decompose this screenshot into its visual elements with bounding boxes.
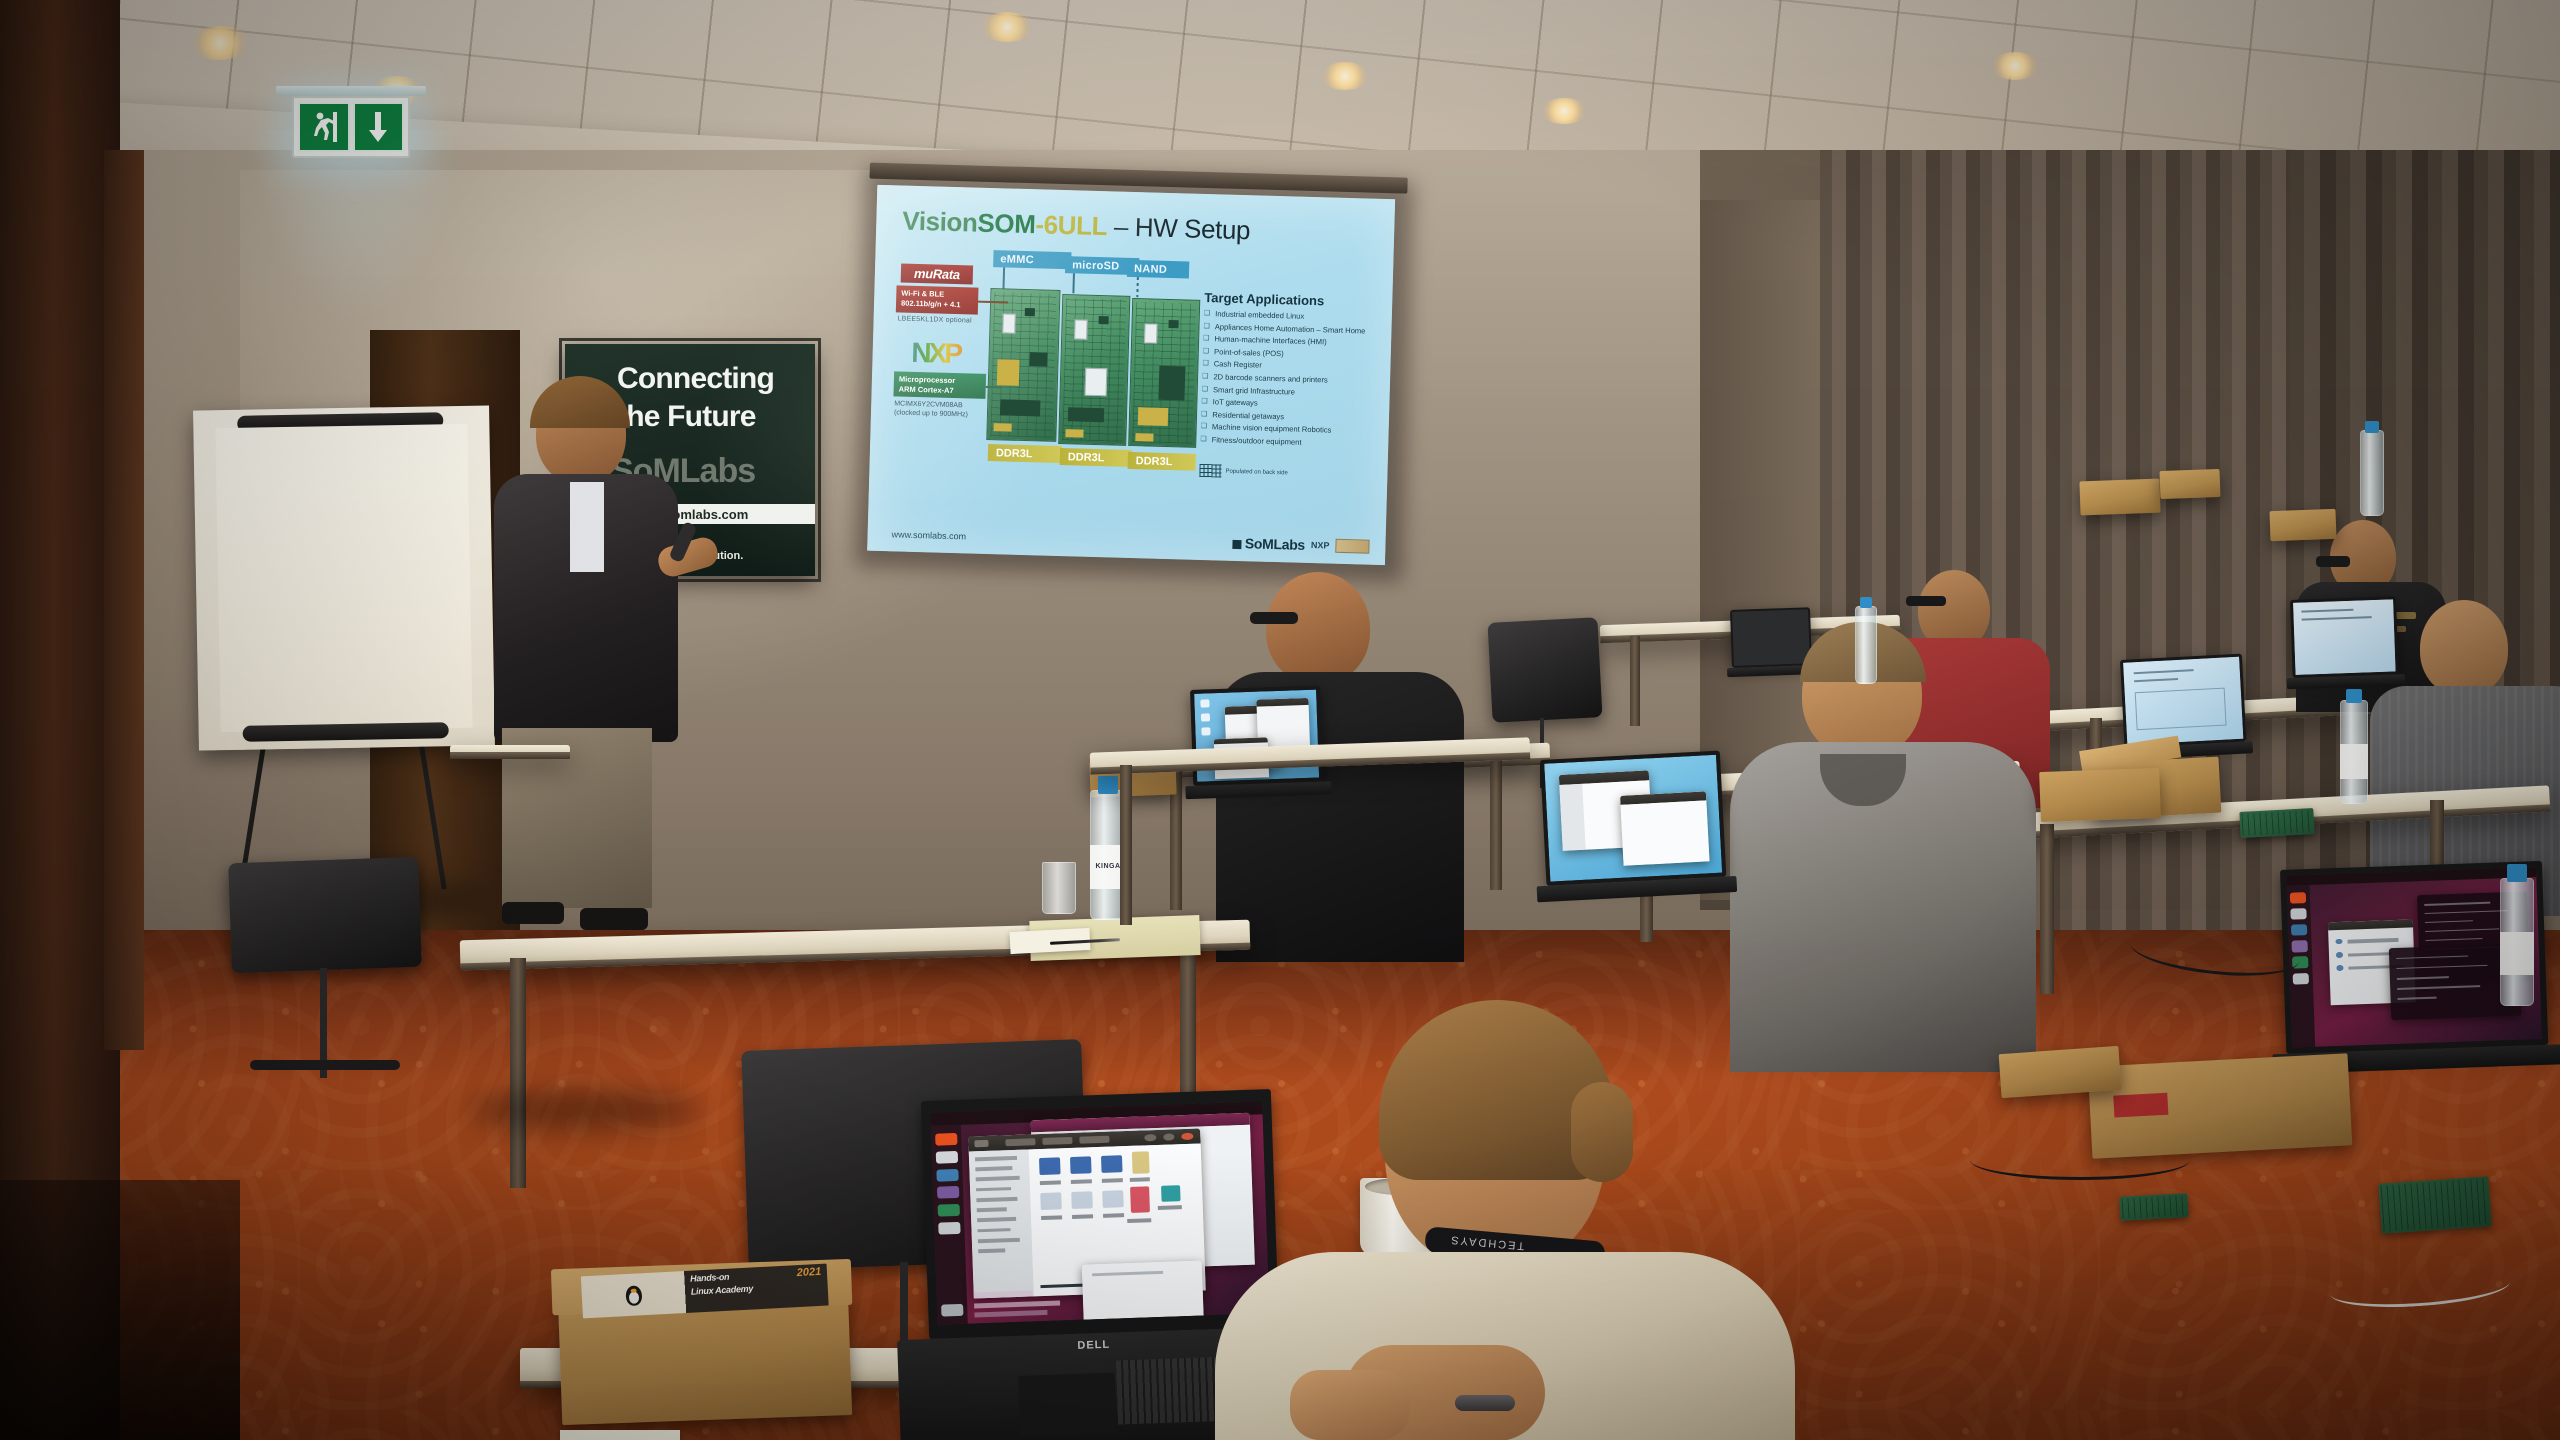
water-bottle[interactable] <box>1855 606 1877 684</box>
ddr-label-1: DDR3L <box>988 444 1062 463</box>
murata-wifi-line2: 802.11b/g/n + 4.1 <box>901 299 973 311</box>
kit-title-line2: Linux Academy <box>691 1283 754 1296</box>
somlabs-mark-icon <box>1233 540 1242 549</box>
slide-footer-url: www.somlabs.com <box>891 529 966 541</box>
lanyard-text: TECHDAYS <box>1449 1233 1525 1251</box>
projection-screen: VisionSOM-6ULL – HW Setup eMMC microSD N… <box>867 177 1398 583</box>
dock-icon-editor[interactable] <box>2291 924 2308 936</box>
workshop-room-photo: Connecting the Future SoMLabs www.somlab… <box>0 0 2560 1440</box>
file-icon[interactable] <box>1071 1191 1092 1209</box>
badge-emmc: eMMC <box>993 250 1071 269</box>
paper-sheet[interactable] <box>560 1430 680 1440</box>
bullet-box-icon: ❑ <box>1203 333 1210 346</box>
folder-icon[interactable] <box>1070 1156 1091 1174</box>
folder-icon[interactable] <box>1101 1155 1122 1173</box>
shoe <box>502 902 564 924</box>
bullet-box-icon: ❑ <box>1202 358 1209 371</box>
table-leg <box>2040 824 2054 994</box>
window-dialog[interactable] <box>1082 1260 1203 1319</box>
populated-grid-icon <box>1199 464 1221 478</box>
presentation-slide: VisionSOM-6ULL – HW Setup eMMC microSD N… <box>867 185 1395 565</box>
file-icon[interactable] <box>1161 1185 1180 1202</box>
flipchart-clip[interactable] <box>243 722 449 742</box>
murata-wifi-box: Wi-Fi & BLE 802.11b/g/n + 4.1 <box>896 285 979 314</box>
badge-leader-line <box>1072 273 1074 293</box>
ceiling-spotlight <box>980 12 1034 42</box>
water-bottle[interactable] <box>2340 700 2368 804</box>
exit-sign-lightbar <box>276 86 426 96</box>
ddr-label-2: DDR3L <box>1060 448 1132 467</box>
shadow <box>470 1090 700 1130</box>
kit-title-line1: Hands-on <box>690 1271 730 1283</box>
file-icon[interactable] <box>1040 1192 1061 1210</box>
murata-logo: muRata <box>901 264 974 285</box>
head <box>1266 572 1370 684</box>
banner-line-2: the Future <box>617 400 756 434</box>
dev-board[interactable] <box>2119 1193 2188 1221</box>
tux-penguin-icon <box>581 1271 686 1318</box>
som-board-microsd <box>1058 294 1130 446</box>
water-bottle[interactable] <box>2500 878 2534 1006</box>
somlabs-logo: SoMLabs <box>1233 535 1306 553</box>
kit-year: 2021 <box>796 1266 821 1279</box>
title-som: SOM <box>977 208 1036 240</box>
hand <box>1290 1370 1410 1440</box>
target-applications-title: Target Applications <box>1204 290 1324 308</box>
dock-icon-files[interactable] <box>2290 908 2307 920</box>
bullet-box-icon: ❑ <box>1201 421 1208 434</box>
title-model: -6ULL <box>1035 209 1107 241</box>
ceiling-spotlight <box>1320 62 1370 90</box>
badge-leader-line <box>1002 267 1004 289</box>
head <box>2420 600 2508 696</box>
bottle-cap[interactable] <box>1860 597 1872 608</box>
eyeglasses-icon <box>1250 612 1298 624</box>
nxp-mcu-line2: ARM Cortex-A7 <box>899 384 981 396</box>
water-bottle[interactable] <box>2360 430 2384 516</box>
flipchart-whiteboard <box>193 405 495 750</box>
file-manager-sidebar[interactable] <box>968 1149 1033 1298</box>
som-board-nand <box>1128 298 1200 448</box>
running-person-icon <box>298 102 350 152</box>
title-suffix: – HW Setup <box>1107 211 1251 245</box>
bottle-label <box>2340 744 2368 779</box>
bottle-cap[interactable] <box>2507 864 2526 882</box>
nxp-part-2: (clocked up to 900MHz) <box>894 408 968 419</box>
dock-icon-apps[interactable] <box>938 1222 960 1235</box>
target-applications-list: ❑Industrial embedded Linux ❑Appliances H… <box>1200 308 1392 452</box>
banner-line-1: Connecting <box>617 362 774 396</box>
dock-icon-apps[interactable] <box>2293 973 2310 985</box>
exit-sign-glow <box>250 130 460 320</box>
nxp-part-number: MCIMX6Y2CVM08AB (clocked up to 900MHz) <box>894 399 968 419</box>
chair-backrest <box>228 857 422 974</box>
laptop-lid <box>1540 751 1726 886</box>
bullet-box-icon: ❑ <box>1202 384 1209 397</box>
kit-box[interactable] <box>2039 768 2161 822</box>
bottle-label <box>2500 932 2534 976</box>
bullet-box-icon: ❑ <box>1203 321 1210 334</box>
som-board-emmc <box>986 288 1060 442</box>
door-frame <box>104 150 144 1050</box>
laptop-screen[interactable] <box>2123 657 2243 745</box>
dock-icon-files[interactable] <box>936 1151 958 1164</box>
side-table <box>450 745 570 759</box>
chair[interactable] <box>228 857 422 974</box>
laptop-screen[interactable] <box>1732 609 1810 666</box>
nxp-mcu-box: Microprocessor ARM Cortex-A7 <box>893 371 986 399</box>
kit-box[interactable] <box>2160 469 2221 499</box>
list-item-label: IoT gateways <box>1213 396 1258 410</box>
bottle-cap[interactable] <box>2346 689 2362 704</box>
eyeglasses-icon <box>2316 556 2350 567</box>
table-leg <box>1490 760 1502 890</box>
nxp-partner-logo: NXP <box>1311 540 1330 551</box>
title-vision: Vision <box>902 206 978 238</box>
laptop-brand-logo: DELL <box>1077 1339 1110 1352</box>
kit-box-label <box>2113 1093 2168 1118</box>
laptop-lid <box>2120 654 2246 748</box>
populated-note: Populated on back side <box>1199 464 1288 479</box>
slide-title: VisionSOM-6ULL – HW Setup <box>902 206 1251 247</box>
bullet-box-icon: ❑ <box>1200 434 1207 447</box>
shirt-collar <box>570 482 604 572</box>
down-arrow-icon <box>353 102 405 152</box>
hair-bun <box>1571 1082 1633 1182</box>
dev-board[interactable] <box>2378 1176 2491 1234</box>
kit-label-text: Hands-on Linux Academy 2021 <box>684 1264 829 1313</box>
ceiling-spotlight <box>1990 52 2040 80</box>
bottle-cap[interactable] <box>1098 776 1118 794</box>
ceiling-spotlight <box>1540 98 1588 124</box>
bullet-box-icon: ❑ <box>1204 308 1211 321</box>
bullet-box-icon: ❑ <box>1202 371 1209 384</box>
kit-box[interactable] <box>2079 479 2160 516</box>
bottle-cap[interactable] <box>2365 421 2378 433</box>
badge-leader-dotted <box>1136 277 1139 297</box>
list-item-label: Fitness/outdoor equipment <box>1211 434 1301 449</box>
chair[interactable] <box>1487 617 1602 723</box>
file-icon-selected[interactable] <box>1130 1186 1150 1213</box>
laptop-screen[interactable] <box>930 1101 1269 1324</box>
cable <box>1970 1140 2190 1180</box>
emergency-exit-sign <box>292 96 410 158</box>
file-icon[interactable] <box>1132 1151 1150 1174</box>
laptop-lid <box>921 1089 1279 1339</box>
dock-icon-settings[interactable] <box>937 1186 959 1199</box>
bullet-box-icon: ❑ <box>1201 409 1208 422</box>
dock-icon-editor[interactable] <box>937 1168 959 1181</box>
ceiling-spotlight <box>190 26 250 60</box>
dock-icon-show-apps[interactable] <box>941 1304 963 1317</box>
kit-box-lid[interactable] <box>1999 1046 2122 1098</box>
laptop-screen[interactable] <box>1544 755 1722 882</box>
laptop-lid <box>2290 596 2399 678</box>
bullet-box-icon: ❑ <box>1203 346 1210 359</box>
eyeglasses-icon <box>1906 596 1946 606</box>
dev-board[interactable] <box>2239 808 2314 838</box>
chair-base <box>250 1060 400 1070</box>
wristwatch <box>1455 1395 1515 1411</box>
file-icon[interactable] <box>1102 1190 1123 1208</box>
kit-box[interactable] <box>2269 509 2336 541</box>
folder-icon[interactable] <box>1039 1157 1060 1175</box>
bullet-box-icon: ❑ <box>1201 396 1208 409</box>
nxp-logo: NXP <box>902 338 969 370</box>
laptop-touchpad[interactable] <box>1018 1373 1116 1436</box>
dock-icon-terminal[interactable] <box>938 1204 960 1217</box>
populated-note-label: Populated on back side <box>1225 468 1288 476</box>
ddr-label-3: DDR3L <box>1128 452 1196 471</box>
flipchart-sheet <box>215 424 472 732</box>
linux-academy-kit-box[interactable]: Hands-on Linux Academy 2021 <box>558 1285 852 1425</box>
dock-icon-firefox[interactable] <box>935 1133 957 1146</box>
laptop-lid <box>1730 607 1812 668</box>
foreground-shade <box>0 1180 240 1440</box>
shoe <box>580 908 648 930</box>
murata-part-number: LBEE5KL1DX optional <box>898 315 972 324</box>
drinking-glass[interactable] <box>1042 862 1076 914</box>
chair-backrest <box>1487 617 1602 723</box>
table-leg <box>510 958 526 1188</box>
table-leg <box>1630 636 1640 726</box>
slide-footer-brands: SoMLabs NXP <box>1233 535 1370 555</box>
dock-icon-firefox[interactable] <box>2290 892 2307 904</box>
laptop-screen[interactable] <box>2293 599 2395 674</box>
badge-nand: NAND <box>1127 260 1189 279</box>
partner-badge-icon <box>1335 539 1369 554</box>
table-leg <box>1120 765 1132 925</box>
